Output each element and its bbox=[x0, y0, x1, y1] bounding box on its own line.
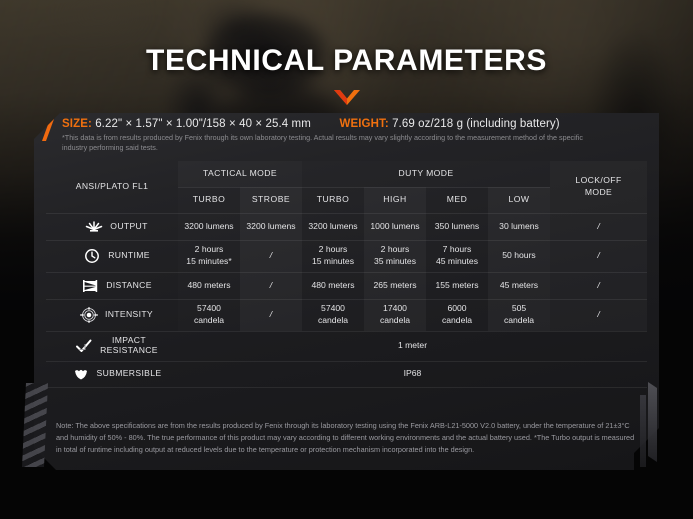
specifications-table: ANSI/PLATO FL1 TACTICAL MODE DUTY MODE L… bbox=[46, 161, 647, 388]
table-row: DISTANCE 480 meters / 480 meters 265 met… bbox=[46, 272, 647, 299]
row-label-intensity-text: INTENSITY bbox=[105, 309, 153, 321]
cell-intensity-duty-turbo: 57400 candela bbox=[302, 299, 364, 331]
water-drop-icon bbox=[71, 366, 91, 382]
page-title: TECHNICAL PARAMETERS bbox=[0, 44, 693, 78]
table-group-header-row: ANSI/PLATO FL1 TACTICAL MODE DUTY MODE L… bbox=[46, 161, 647, 187]
cell-distance-tactical-strobe: / bbox=[240, 272, 302, 299]
size-weight-line: SIZE: 6.22" × 1.57" × 1.00"/158 × 40 × 2… bbox=[62, 118, 645, 130]
cell-intensity-duty-med: 6000 candela bbox=[426, 299, 488, 331]
beam-distance-icon bbox=[80, 278, 100, 294]
cell-runtime-duty-turbo: 2 hours 15 minutes bbox=[302, 240, 364, 272]
row-label-runtime-text: RUNTIME bbox=[108, 250, 150, 262]
mode-header-tactical-strobe: STROBE bbox=[240, 187, 302, 213]
size-weight-strip: SIZE: 6.22" × 1.57" × 1.00"/158 × 40 × 2… bbox=[34, 113, 659, 158]
cell-distance-tactical-turbo: 480 meters bbox=[178, 272, 240, 299]
cell-output-duty-med: 350 lumens bbox=[426, 213, 488, 240]
cell-distance-duty-med: 155 meters bbox=[426, 272, 488, 299]
mode-header-duty-low: LOW bbox=[488, 187, 550, 213]
row-label-submersible-text: SUBMERSIBLE bbox=[97, 368, 162, 380]
target-intensity-icon bbox=[79, 307, 99, 323]
row-label-distance-text: DISTANCE bbox=[106, 280, 152, 292]
cell-output-duty-low: 30 lumens bbox=[488, 213, 550, 240]
burst-icon bbox=[84, 219, 104, 235]
table-row: OUTPUT 3200 lumens 3200 lumens 3200 lume… bbox=[46, 213, 647, 240]
weight-label: WEIGHT: bbox=[340, 118, 389, 130]
cell-runtime-lock-off: / bbox=[550, 240, 647, 272]
cell-intensity-duty-low: 505 candela bbox=[488, 299, 550, 331]
cell-output-duty-turbo: 3200 lumens bbox=[302, 213, 364, 240]
cell-intensity-lock-off: / bbox=[550, 299, 647, 331]
mode-header-duty-med: MED bbox=[426, 187, 488, 213]
cell-runtime-duty-med: 7 hours 45 minutes bbox=[426, 240, 488, 272]
row-label-output: OUTPUT bbox=[46, 213, 178, 240]
chevron-down-icon bbox=[0, 88, 693, 108]
cell-runtime-tactical-strobe: / bbox=[240, 240, 302, 272]
weight-value: 7.69 oz/218 g (including battery) bbox=[392, 118, 560, 130]
decorative-right-edge bbox=[648, 382, 657, 462]
impact-line2: RESISTANCE bbox=[100, 345, 158, 355]
mode-header-duty-high: HIGH bbox=[364, 187, 426, 213]
corner-header-ansi-plato: ANSI/PLATO FL1 bbox=[46, 161, 178, 213]
spec-disclaimer: *This data is from results produced by F… bbox=[62, 133, 602, 154]
lock-off-line2: MODE bbox=[585, 187, 612, 197]
mode-header-duty-turbo: TURBO bbox=[302, 187, 364, 213]
mode-header-tactical-turbo: TURBO bbox=[178, 187, 240, 213]
impact-line1: IMPACT bbox=[112, 335, 146, 345]
cell-output-lock-off: / bbox=[550, 213, 647, 240]
group-header-lock-off-mode: LOCK/OFF MODE bbox=[550, 161, 647, 213]
checkmark-impact-icon bbox=[74, 338, 94, 354]
group-header-duty-mode: DUTY MODE bbox=[302, 161, 550, 187]
cell-runtime-duty-high: 2 hours 35 minutes bbox=[364, 240, 426, 272]
cell-submersible-value: IP68 bbox=[178, 361, 647, 387]
cell-impact-resistance-value: 1 meter bbox=[178, 331, 647, 361]
size-value: 6.22" × 1.57" × 1.00"/158 × 40 × 25.4 mm bbox=[95, 118, 311, 130]
row-label-submersible: SUBMERSIBLE bbox=[46, 361, 178, 387]
spec-panel: SIZE: 6.22" × 1.57" × 1.00"/158 × 40 × 2… bbox=[34, 113, 659, 470]
cell-output-tactical-strobe: 3200 lumens bbox=[240, 213, 302, 240]
cell-distance-duty-high: 265 meters bbox=[364, 272, 426, 299]
cell-distance-lock-off: / bbox=[550, 272, 647, 299]
table-row: SUBMERSIBLE IP68 bbox=[46, 361, 647, 387]
cell-runtime-tactical-turbo: 2 hours 15 minutes* bbox=[178, 240, 240, 272]
technical-parameters-page: TECHNICAL PARAMETERS SIZE: 6.22" × 1.57"… bbox=[0, 0, 693, 519]
row-label-intensity: INTENSITY bbox=[46, 299, 178, 331]
footer-note: Note: The above specifications are from … bbox=[56, 420, 636, 455]
cell-output-tactical-turbo: 3200 lumens bbox=[178, 213, 240, 240]
cell-distance-duty-low: 45 meters bbox=[488, 272, 550, 299]
group-header-tactical-mode: TACTICAL MODE bbox=[178, 161, 302, 187]
cell-distance-duty-turbo: 480 meters bbox=[302, 272, 364, 299]
table-row: RUNTIME 2 hours 15 minutes* / 2 hours 15… bbox=[46, 240, 647, 272]
row-label-output-text: OUTPUT bbox=[110, 221, 147, 233]
table-row: IMPACTRESISTANCE 1 meter bbox=[46, 331, 647, 361]
table-row: INTENSITY 57400 candela / 57400 candela … bbox=[46, 299, 647, 331]
size-label: SIZE: bbox=[62, 118, 92, 130]
cell-intensity-tactical-strobe: / bbox=[240, 299, 302, 331]
decorative-right-edge-inner bbox=[640, 395, 646, 467]
cell-runtime-duty-low: 50 hours bbox=[488, 240, 550, 272]
row-label-impact-resistance: IMPACTRESISTANCE bbox=[46, 331, 178, 361]
lock-off-line1: LOCK/OFF bbox=[575, 175, 621, 185]
row-label-distance: DISTANCE bbox=[46, 272, 178, 299]
decorative-hatch-stripes bbox=[22, 383, 48, 467]
cell-output-duty-high: 1000 lumens bbox=[364, 213, 426, 240]
cell-intensity-tactical-turbo: 57400 candela bbox=[178, 299, 240, 331]
cell-intensity-duty-high: 17400 candela bbox=[364, 299, 426, 331]
clock-icon bbox=[82, 248, 102, 264]
row-label-runtime: RUNTIME bbox=[46, 240, 178, 272]
row-label-impact-text: IMPACTRESISTANCE bbox=[100, 336, 158, 356]
